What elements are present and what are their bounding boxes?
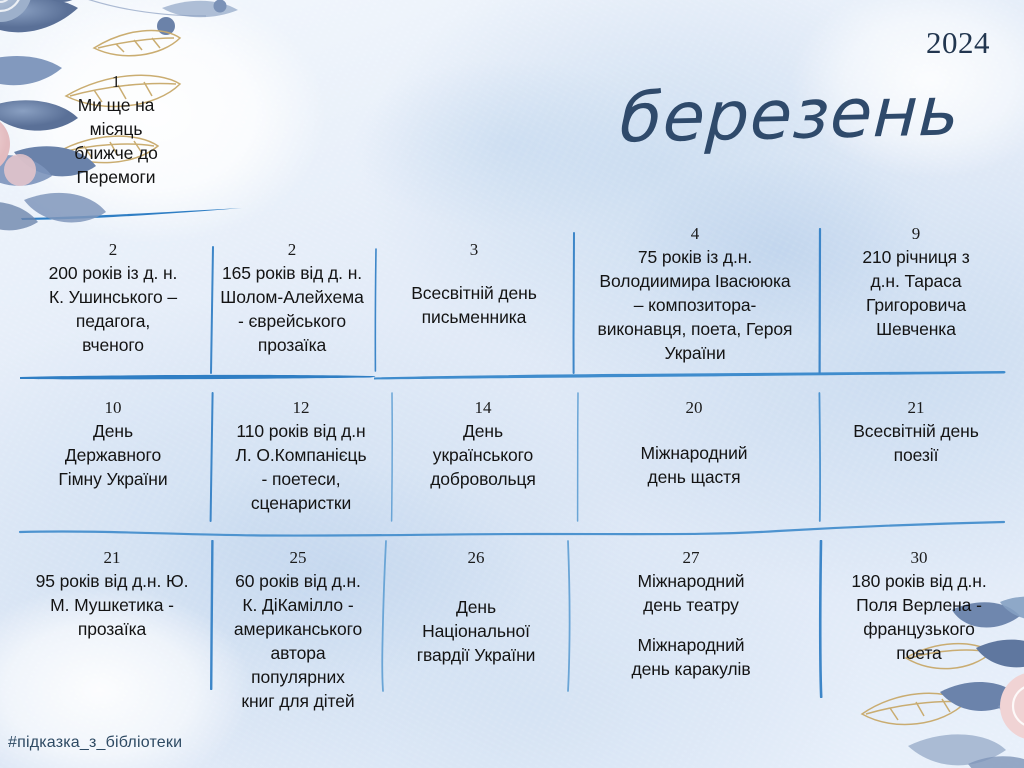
day-text-line: виконавця, поета, Героя — [598, 317, 793, 341]
day-number: 27 — [683, 548, 700, 567]
day-text-line: К. ДіКамілло - — [234, 593, 362, 617]
day-text-line: Л. О.Компанієць — [236, 443, 367, 467]
day-text-line: День — [430, 419, 536, 443]
day-text-line: Шевченка — [862, 317, 969, 341]
day-text-line: поета — [851, 641, 986, 665]
year-label: 2024 — [926, 26, 990, 60]
day-text-line: - поетеси, — [236, 467, 367, 491]
day-text-line: день театру — [631, 593, 750, 617]
day-text-line: М. Мушкетика - — [36, 593, 189, 617]
calendar-cell[interactable]: 1 Ми ще на місяць ближче до Перемоги — [18, 72, 214, 189]
day-text: 200 років із д. н. К. Ушинського – педаг… — [49, 261, 178, 357]
day-text-line: американського — [234, 617, 362, 641]
day-text-line: 210 річниця з — [862, 245, 969, 269]
day-text-line: Всесвітній день — [411, 281, 537, 305]
day-text: 75 років із д.н. Володиимира Івасююка – … — [598, 245, 793, 365]
day-text-line: Гімну України — [58, 467, 167, 491]
day-number: 30 — [911, 548, 928, 567]
day-text-line: популярних — [234, 665, 362, 689]
day-text-line: педагога, — [49, 309, 178, 333]
calendar-cell[interactable]: 14 День українського добровольця — [394, 398, 572, 491]
day-text: 110 років від д.н Л. О.Компанієць - поет… — [236, 419, 367, 515]
day-text-line: Шолом-Алейхема — [220, 285, 363, 309]
calendar-cell[interactable]: 3 Всесвітній день письменника — [382, 240, 566, 329]
wavy-rule-row2 — [18, 516, 1008, 540]
calendar-cell[interactable]: 20 Міжнародний день щастя — [580, 398, 808, 489]
day-text-line: – композитора- — [598, 293, 793, 317]
day-text: День українського добровольця — [430, 419, 536, 491]
calendar-cell[interactable]: 10 День Державного Гімну України — [18, 398, 208, 491]
brush-underline-row0 — [18, 206, 248, 222]
day-text-line: Перемоги — [74, 165, 158, 189]
calendar-cell[interactable]: 4 75 років із д.н. Володиимира Івасююка … — [576, 224, 814, 365]
day-text-line: 110 років від д.н — [236, 419, 367, 443]
day-text: Міжнародний день щастя — [641, 441, 748, 489]
calendar-cell[interactable]: 2 165 років від д. н. Шолом-Алейхема - є… — [216, 240, 368, 357]
calendar-cell[interactable]: 26 День Національної гвардії України — [388, 548, 564, 667]
day-text-line: Всесвітній день — [853, 419, 979, 443]
day-number: 2 — [109, 240, 118, 259]
day-number: 3 — [470, 240, 479, 259]
day-number: 26 — [468, 548, 485, 567]
day-text-line: письменника — [411, 305, 537, 329]
day-text-line: Міжнародний — [631, 569, 750, 593]
month-title: березень — [578, 74, 1002, 159]
day-text: 180 років від д.н. Поля Верлена - францу… — [851, 569, 986, 665]
day-text: Всесвітній день поезії — [853, 419, 979, 467]
day-number: 21 — [908, 398, 925, 417]
calendar-cell[interactable]: 12 110 років від д.н Л. О.Компанієць - п… — [216, 398, 386, 515]
day-text-line: д.н. Тараса — [862, 269, 969, 293]
day-text: 95 років від д.н. Ю. М. Мушкетика - проз… — [36, 569, 189, 641]
day-number: 10 — [105, 398, 122, 417]
day-text-line: гвардії України — [417, 643, 536, 667]
day-text-line: прозаїка — [36, 617, 189, 641]
day-text-line: французького — [851, 617, 986, 641]
day-text-line: місяць — [74, 117, 158, 141]
day-text: 165 років від д. н. Шолом-Алейхема - євр… — [220, 261, 363, 357]
day-text: Міжнародний день театру Міжнародний день… — [631, 569, 750, 681]
day-text: День Державного Гімну України — [58, 419, 167, 491]
calendar-cell[interactable]: 30 180 років від д.н. Поля Верлена - фра… — [824, 548, 1014, 665]
calendar-cell[interactable]: 27 Міжнародний день театру Міжнародний д… — [574, 548, 808, 681]
day-number: 9 — [912, 224, 921, 243]
brush-rule-row1 — [18, 368, 1008, 384]
calendar-cell[interactable]: 21 95 років від д.н. Ю. М. Мушкетика - п… — [14, 548, 210, 641]
day-text-line: вченого — [49, 333, 178, 357]
calendar-cell[interactable]: 25 60 років від д.н. К. ДіКамілло - амер… — [216, 548, 380, 713]
day-number: 1 — [112, 72, 121, 91]
day-number: 20 — [686, 398, 703, 417]
day-text-line: день каракулів — [631, 657, 750, 681]
day-text-line: України — [598, 341, 793, 365]
calendar-page: 2024 березень — [0, 0, 1024, 768]
day-text-line: 75 років із д.н. — [598, 245, 793, 269]
day-text-line: - єврейського — [220, 309, 363, 333]
day-text: Ми ще на місяць ближче до Перемоги — [74, 93, 158, 189]
day-text-line: Володиимира Івасююка — [598, 269, 793, 293]
day-text-line: Поля Верлена - — [851, 593, 986, 617]
day-text-line: 165 років від д. н. — [220, 261, 363, 285]
day-text: Всесвітній день письменника — [411, 281, 537, 329]
day-text-line: К. Ушинського – — [49, 285, 178, 309]
day-text-line: добровольця — [430, 467, 536, 491]
day-text-line: Ми ще на — [74, 93, 158, 117]
day-text-line: Міжнародний — [641, 441, 748, 465]
day-text-line: День — [58, 419, 167, 443]
day-text: 210 річниця з д.н. Тараса Григоровича Ше… — [862, 245, 969, 341]
day-number: 14 — [475, 398, 492, 417]
day-text-line: Національної — [417, 619, 536, 643]
day-text-line: поезії — [853, 443, 979, 467]
day-text-line: книг для дітей — [234, 689, 362, 713]
day-text-line: Григоровича — [862, 293, 969, 317]
day-text-line: 95 років від д.н. Ю. — [36, 569, 189, 593]
day-number: 25 — [290, 548, 307, 567]
day-number: 2 — [288, 240, 297, 259]
day-number: 21 — [104, 548, 121, 567]
day-number: 4 — [691, 224, 700, 243]
calendar-cell[interactable]: 9 210 річниця з д.н. Тараса Григоровича … — [824, 224, 1008, 341]
day-text: 60 років від д.н. К. ДіКамілло - америка… — [234, 569, 362, 713]
day-text-line: українського — [430, 443, 536, 467]
day-text-line: День — [417, 595, 536, 619]
day-text-line: 180 років від д.н. — [851, 569, 986, 593]
library-hashtag: #підказка_з_бібліотеки — [8, 734, 182, 752]
day-text-line: 60 років від д.н. — [234, 569, 362, 593]
day-text-line: 200 років із д. н. — [49, 261, 178, 285]
calendar-cell[interactable]: 2 200 років із д. н. К. Ушинського – пед… — [18, 240, 208, 357]
day-text-spacer — [631, 617, 750, 633]
day-text-line: сценаристки — [236, 491, 367, 515]
calendar-cell[interactable]: 21 Всесвітній день поезії — [824, 398, 1008, 467]
day-text-line: Державного — [58, 443, 167, 467]
day-text-line: ближче до — [74, 141, 158, 165]
day-text-line: прозаїка — [220, 333, 363, 357]
day-text: День Національної гвардії України — [417, 595, 536, 667]
day-text-line: автора — [234, 641, 362, 665]
day-number: 12 — [293, 398, 310, 417]
day-text-line: Міжнародний — [631, 633, 750, 657]
day-text-line: день щастя — [641, 465, 748, 489]
